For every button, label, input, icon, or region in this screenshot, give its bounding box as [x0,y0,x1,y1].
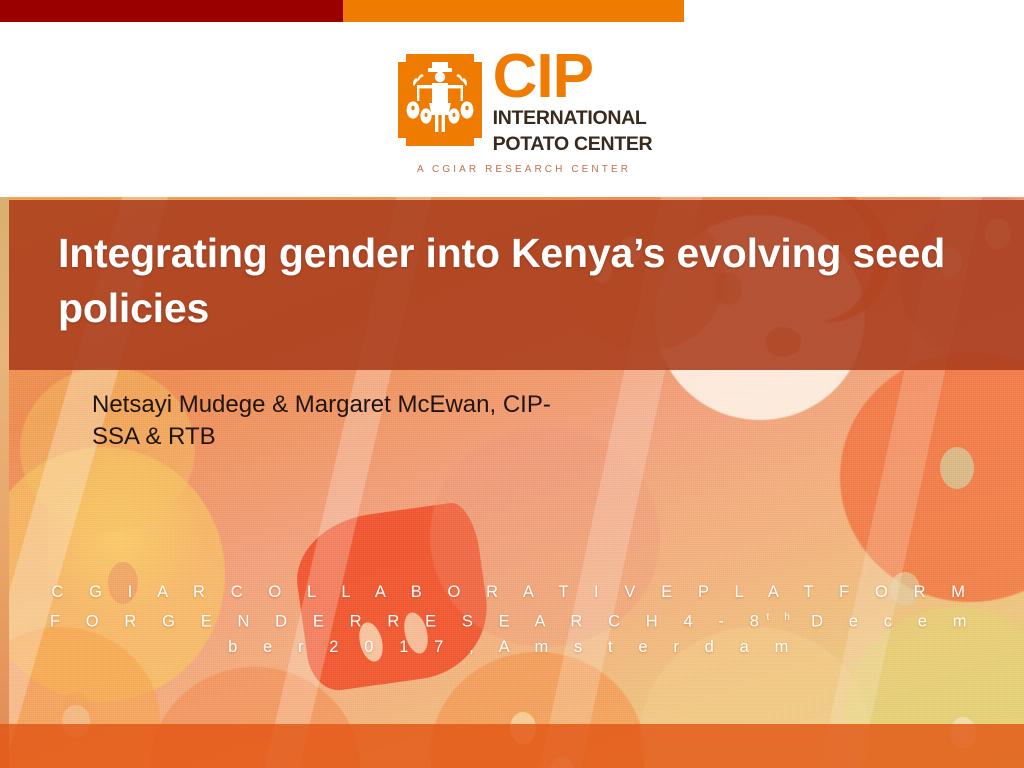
top-bar-segment-red [0,0,343,22]
event-ordinal-suffix: t h [767,612,793,623]
left-edge-strip [0,197,9,768]
potato-eye [940,447,974,489]
title-band: Integrating gender into Kenya’s evolving… [0,200,1024,370]
bottom-accent-band [0,724,1024,768]
logo-tagline: A CGIAR RESEARCH CENTER [417,164,631,175]
event-footer: C G I A R C O L L A B O R A T I V E P L … [40,580,984,660]
cip-emblem-icon [396,52,484,148]
logo-name-line2: POTATO CENTER [493,133,653,155]
slide-title: Integrating gender into Kenya’s evolving… [58,226,1024,337]
logo-name-line1: INTERNATIONAL [493,107,653,129]
logo-acronym: CIP [493,52,653,103]
top-bar-segment-orange [343,0,684,22]
event-line-2a: F O R G E N D E R R E S E A R C H 4 - 8 [50,613,767,631]
authors-line: Netsayi Mudege & Margaret McEwan, CIP-SS… [92,389,572,452]
cip-logo: CIP INTERNATIONAL POTATO CENTER A CGIAR … [396,52,653,174]
logo-area: CIP INTERNATIONAL POTATO CENTER A CGIAR … [0,22,1024,197]
event-line-3: 2 0 1 7 , A m s t e r d a m [329,638,796,656]
title-slide: CIP INTERNATIONAL POTATO CENTER A CGIAR … [0,0,1024,768]
top-accent-bar [0,0,1024,22]
event-line-1: C G I A R C O L L A B O R A T I V E P L … [51,583,972,601]
